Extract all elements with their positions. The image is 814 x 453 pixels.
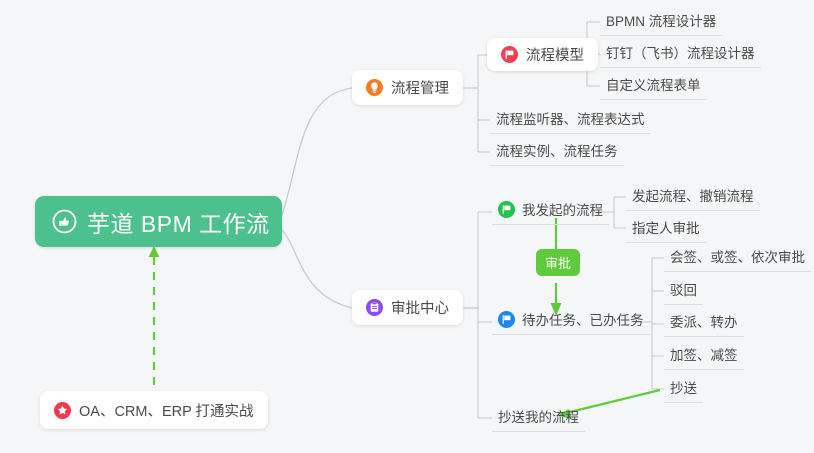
leaf-label: 指定人审批 bbox=[632, 217, 700, 237]
leaf-label: BPMN 流程设计器 bbox=[606, 10, 716, 30]
leaf-dingtalk-feishu-designer[interactable]: 钉钉（飞书）流程设计器 bbox=[600, 42, 761, 68]
leaf-carbon-copy[interactable]: 抄送 bbox=[664, 377, 703, 403]
flag-icon bbox=[501, 46, 518, 63]
node-label: 待办任务、已办任务 bbox=[522, 309, 644, 329]
root-label: 芋道 BPM 工作流 bbox=[87, 205, 270, 239]
leaf-label: 钉钉（飞书）流程设计器 bbox=[606, 42, 755, 62]
leaf-label: 抄送我的流程 bbox=[498, 406, 579, 426]
branch-process-management[interactable]: 流程管理 bbox=[352, 70, 463, 105]
leaf-assignee-approval[interactable]: 指定人审批 bbox=[626, 217, 706, 243]
leaf-label: 会签、或签、依次审批 bbox=[670, 246, 805, 266]
leaf-bpmn-designer[interactable]: BPMN 流程设计器 bbox=[600, 10, 722, 36]
leaf-label: 抄送 bbox=[670, 377, 697, 397]
leaf-label: 自定义流程表单 bbox=[606, 74, 701, 94]
flag-icon bbox=[498, 311, 515, 328]
leaf-reject[interactable]: 驳回 bbox=[664, 279, 703, 305]
node-process-model[interactable]: 流程模型 bbox=[487, 38, 598, 71]
branch-approval-center[interactable]: 审批中心 bbox=[352, 290, 463, 325]
leaf-label: 流程实例、流程任务 bbox=[496, 140, 618, 160]
leaf-delegate-transfer[interactable]: 委派、转办 bbox=[664, 311, 744, 337]
leaf-label: 流程监听器、流程表达式 bbox=[496, 108, 645, 128]
leaf-countersign-orsign-sequential[interactable]: 会签、或签、依次审批 bbox=[664, 246, 811, 272]
approval-badge[interactable]: 审批 bbox=[536, 249, 580, 276]
root-node[interactable]: 芋道 BPM 工作流 bbox=[35, 196, 282, 247]
star-icon bbox=[54, 402, 71, 419]
clipboard-icon bbox=[366, 299, 383, 316]
leaf-label: 加签、减签 bbox=[670, 344, 738, 364]
leaf-label: 驳回 bbox=[670, 279, 697, 299]
leaf-cc-to-me-process[interactable]: 抄送我的流程 bbox=[492, 406, 585, 432]
floating-node-label: OA、CRM、ERP 打通实战 bbox=[79, 400, 254, 421]
floating-node-oa-crm-erp[interactable]: OA、CRM、ERP 打通实战 bbox=[40, 391, 268, 429]
branch-label: 流程管理 bbox=[391, 77, 449, 98]
branch-label: 审批中心 bbox=[391, 297, 449, 318]
thumbs-up-icon bbox=[52, 209, 77, 234]
mindmap-canvas: 芋道 BPM 工作流 流程管理 流程模型 BPMN 流程设计器 钉钉（飞书 bbox=[0, 0, 814, 453]
leaf-label: 委派、转办 bbox=[670, 311, 738, 331]
lightbulb-icon bbox=[366, 79, 383, 96]
leaf-add-remove-sign[interactable]: 加签、减签 bbox=[664, 344, 744, 370]
badge-label: 审批 bbox=[545, 253, 571, 272]
node-my-initiated-process[interactable]: 我发起的流程 bbox=[492, 199, 609, 225]
dashed-green-arrow bbox=[149, 246, 160, 385]
leaf-custom-process-form[interactable]: 自定义流程表单 bbox=[600, 74, 707, 100]
leaf-process-instance-task[interactable]: 流程实例、流程任务 bbox=[490, 140, 624, 166]
leaf-process-listener-expression[interactable]: 流程监听器、流程表达式 bbox=[490, 108, 651, 134]
node-todo-done-tasks[interactable]: 待办任务、已办任务 bbox=[492, 309, 650, 335]
node-label: 我发起的流程 bbox=[522, 199, 603, 219]
leaf-label: 发起流程、撤销流程 bbox=[632, 185, 754, 205]
node-label: 流程模型 bbox=[526, 44, 584, 65]
flag-icon bbox=[498, 201, 515, 218]
leaf-start-cancel-process[interactable]: 发起流程、撤销流程 bbox=[626, 185, 760, 211]
